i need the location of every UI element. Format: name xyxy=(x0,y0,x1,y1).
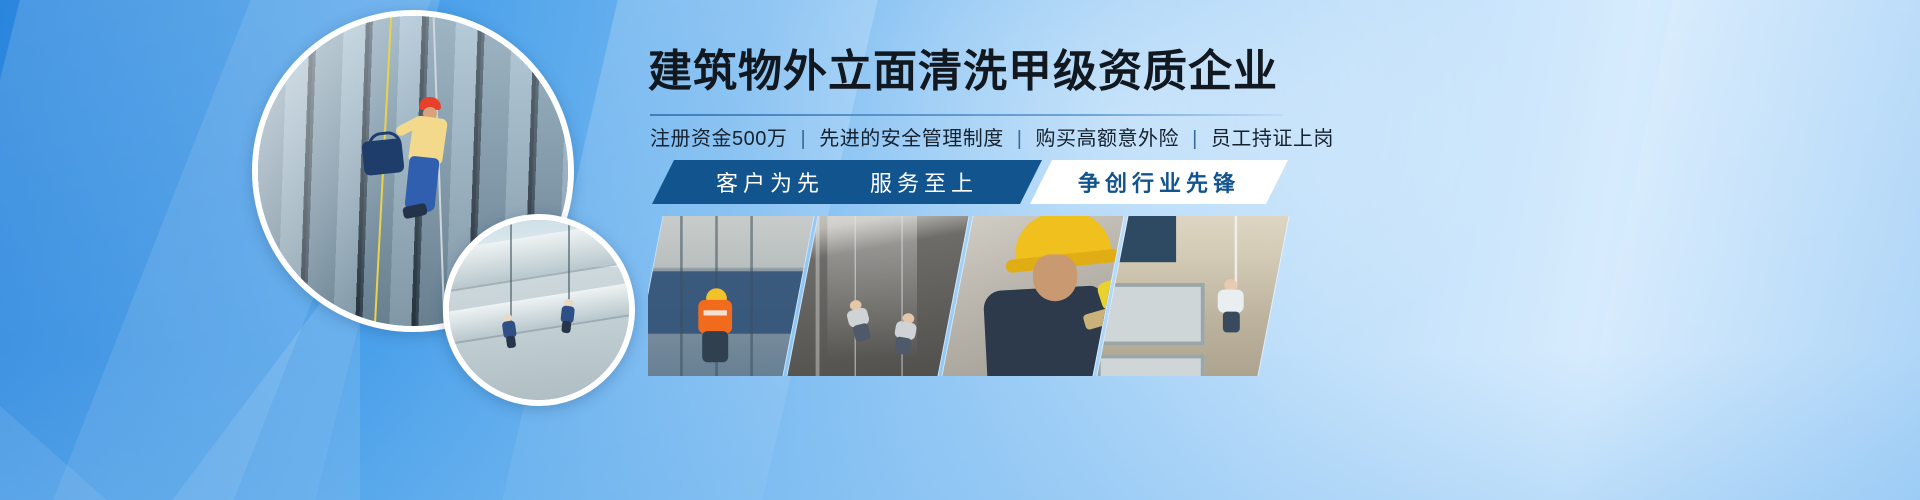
strip-photo-2 xyxy=(787,216,968,376)
banner-subtitle: 注册资金500万 | 先进的安全管理制度 | 购买高额意外险 | 员工持证上岗 xyxy=(650,122,1340,151)
balcony-upper xyxy=(1097,284,1204,346)
white-building-image xyxy=(449,220,629,400)
photo-strip xyxy=(648,216,1296,376)
worker-orange-vest xyxy=(696,288,735,363)
subtitle-item-2: 先进的安全管理制度 xyxy=(819,128,1004,150)
strip-photo-1 xyxy=(648,216,814,376)
slogan-ribbon: 客户为先 服务至上 争创行业先锋 xyxy=(652,160,1284,204)
rope-left xyxy=(510,220,512,328)
promo-banner: 建筑物外立面清洗甲级资质企业 注册资金500万 | 先进的安全管理制度 | 购买… xyxy=(0,0,1920,500)
background-shape-4 xyxy=(0,300,220,500)
banner-headline: 建筑物外立面清洗甲级资质企业 xyxy=(648,48,1328,96)
facade-line-3 xyxy=(750,216,753,376)
background-shape-6 xyxy=(1546,0,1920,500)
facade-scene-2 xyxy=(787,216,968,376)
subtitle-separator-3: | xyxy=(1185,128,1205,150)
worker-legs xyxy=(702,331,728,362)
subtitle-item-1: 注册资金500万 xyxy=(650,128,787,150)
worker-face xyxy=(1033,254,1077,301)
balcony-lower xyxy=(1097,354,1204,376)
orange-vest xyxy=(698,299,732,333)
worker-legs xyxy=(894,336,912,355)
subtitle-item-4: 员工持证上岗 xyxy=(1211,128,1334,150)
worker-body xyxy=(1218,290,1244,313)
slogan-2: 服务至上 xyxy=(870,166,978,198)
headline-divider xyxy=(650,114,1283,116)
strip-photo-4 xyxy=(1097,216,1288,376)
facade-scene-4 xyxy=(1097,216,1288,376)
worker-legs xyxy=(506,335,517,348)
facade-line-1 xyxy=(680,216,683,376)
facade-scene-1 xyxy=(648,216,814,376)
worker-on-rope xyxy=(1218,279,1244,331)
worker-legs xyxy=(561,321,571,334)
subtitle-separator-1: | xyxy=(793,128,813,150)
cleaning-bucket xyxy=(362,138,405,176)
wall-edge xyxy=(816,216,820,376)
rope-access-worker xyxy=(401,97,455,227)
rope-1 xyxy=(855,216,856,376)
slogan-highlight: 争创行业先锋 xyxy=(1078,166,1240,198)
subtitle-item-3: 购买高额意外险 xyxy=(1036,128,1180,150)
worker-legs xyxy=(1223,312,1240,333)
circle-photo-white-building xyxy=(443,214,635,406)
yellow-helmet xyxy=(706,288,727,301)
facade-scene-3 xyxy=(942,216,1123,376)
slogan-ribbon-white: 争创行业先锋 xyxy=(1030,160,1288,204)
safety-rope xyxy=(1235,216,1238,288)
strip-photo-3 xyxy=(942,216,1123,376)
subtitle-separator-2: | xyxy=(1010,128,1030,150)
slogan-ribbon-blue: 客户为先 服务至上 xyxy=(652,160,1042,204)
slogan-1: 客户为先 xyxy=(716,166,824,198)
